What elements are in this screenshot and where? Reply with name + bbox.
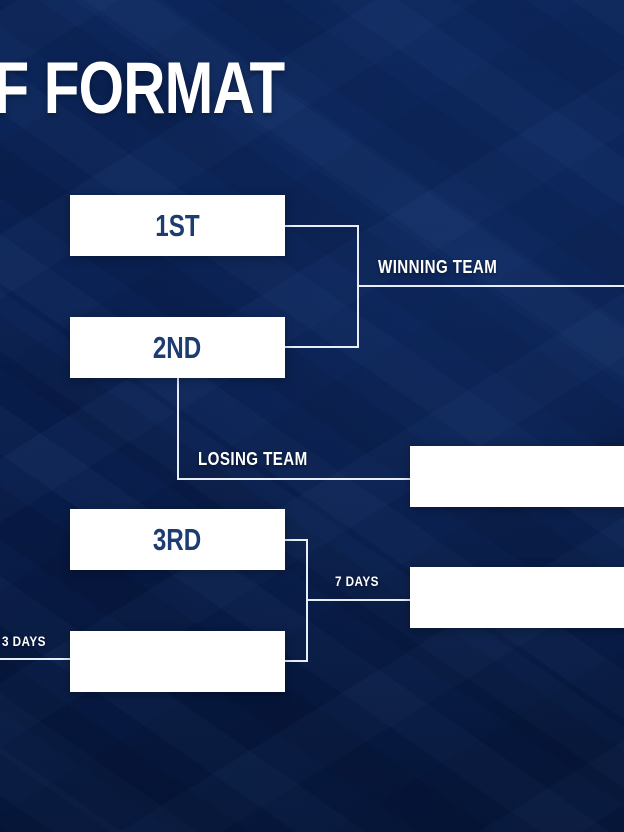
bracket-box-result-upper[interactable] <box>410 446 624 507</box>
bracket-box-label: 1ST <box>155 210 199 241</box>
connector-line-blank-out <box>285 660 308 662</box>
bracket-box-lower-blank[interactable] <box>70 631 285 692</box>
connector-label-losing-team: LOSING TEAM <box>198 450 308 468</box>
connector-line-2nd-out <box>285 346 359 348</box>
bracket-box-3rd[interactable]: 3RD <box>70 509 285 570</box>
bracket-box-label: 2ND <box>153 332 201 363</box>
connector-line-1st-out <box>285 225 359 227</box>
bracket-box-label: 3RD <box>153 524 201 555</box>
page-title: OFF FORMAT <box>0 52 284 125</box>
bracket-box-1st[interactable]: 1ST <box>70 195 285 256</box>
connector-line-3rd-out <box>285 539 308 541</box>
connector-line-winning-team <box>357 285 624 287</box>
connector-line-7-days <box>306 599 410 601</box>
connector-line-losing-drop <box>177 378 179 480</box>
connector-line-3-days <box>0 658 70 660</box>
connector-label-3-days: 3 DAYS <box>2 634 46 648</box>
connector-line-losing-team <box>177 478 410 480</box>
connector-label-winning-team: WINNING TEAM <box>378 258 497 276</box>
playoff-format-graphic: OFF FORMAT 1ST 2ND 3RD WINNING TEAM LOSI… <box>0 0 624 832</box>
connector-label-7-days: 7 DAYS <box>335 574 379 588</box>
bracket-box-result-lower[interactable] <box>410 567 624 628</box>
bracket-box-2nd[interactable]: 2ND <box>70 317 285 378</box>
